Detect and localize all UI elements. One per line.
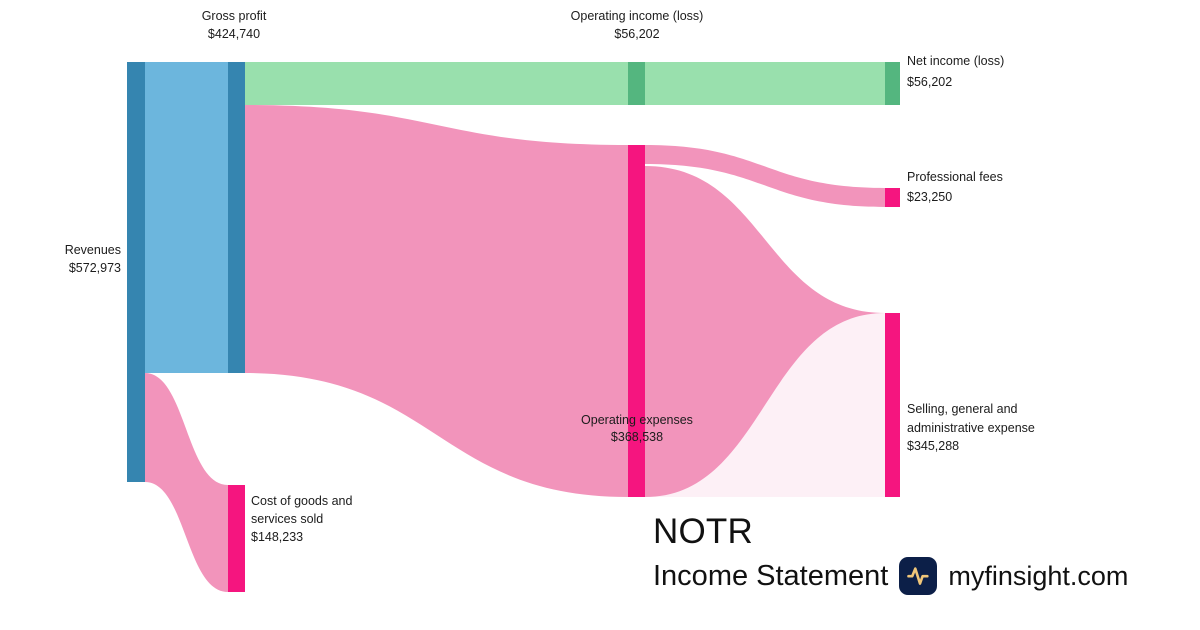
label-cogs-value: $148,233 [251,530,303,544]
node-operating-expenses[interactable] [628,145,645,497]
label-gross-profit-value: $424,740 [208,27,260,41]
label-professional-fees-name: Professional fees [907,170,1003,184]
label-operating-expenses-name: Operating expenses [581,413,693,427]
brand-site: myfinsight.com [948,560,1128,592]
pulse-wave-icon [899,557,937,595]
node-cost-of-goods-and-services-sold[interactable] [228,485,245,592]
brand-subtitle: Income Statement [653,559,888,593]
node-professional-fees[interactable] [885,188,900,207]
link-operating-income-net-income [645,62,885,105]
label-operating-income-value: $56,202 [614,27,659,41]
node-gross-profit[interactable] [228,62,245,373]
label-gross-profit-name: Gross profit [202,9,267,23]
label-cogs-name-line2: services sold [251,512,323,526]
label-revenues-name: Revenues [65,243,121,257]
node-operating-income[interactable] [628,62,645,105]
label-sga-name-line2: administrative expense [907,421,1035,435]
label-net-income-value: $56,202 [907,75,952,89]
brand-ticker: NOTR [653,512,1093,552]
label-operating-income-name: Operating income (loss) [571,9,704,23]
brand-row: Income Statement myfinsight.com [653,557,1093,595]
link-revenues-gross-profit [145,62,228,373]
label-net-income-name: Net income (loss) [907,54,1004,68]
label-professional-fees-value: $23,250 [907,190,952,204]
label-operating-expenses-value: $368,538 [611,430,663,444]
node-net-income[interactable] [885,62,900,105]
label-sga-value: $345,288 [907,439,959,453]
link-gross-profit-operating-income [245,62,628,105]
node-revenues[interactable] [127,62,145,482]
branding-block: NOTR Income Statement myfinsight.com [653,512,1093,608]
label-revenues-value: $572,973 [69,261,121,275]
node-selling-general-administrative[interactable] [885,313,900,497]
label-cogs-name-line1: Cost of goods and [251,494,353,508]
label-sga-name-line1: Selling, general and [907,402,1018,416]
